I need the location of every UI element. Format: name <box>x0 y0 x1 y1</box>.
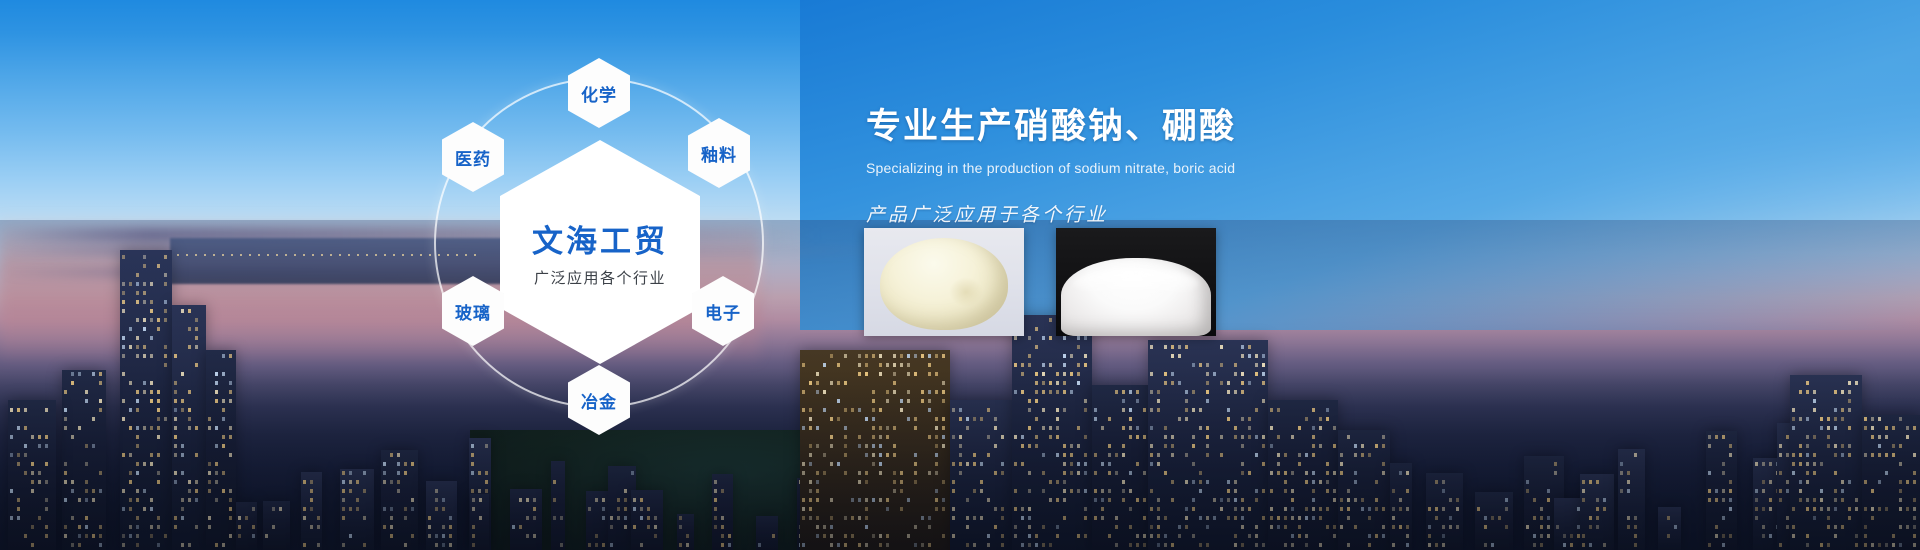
node-glass-label: 玻璃 <box>455 299 491 324</box>
industry-diagram: 文海工贸 广泛应用各个行业 化学 釉料 电子 冶金 玻璃 医药 <box>420 30 790 470</box>
company-name: 文海工贸 <box>532 216 668 261</box>
hero-banner: 文海工贸 广泛应用各个行业 化学 釉料 电子 冶金 玻璃 医药 专业生产硝酸钠、… <box>0 0 1920 550</box>
subheadline-text: Specializing in the production of sodium… <box>866 160 1766 176</box>
powder-pile-white <box>1061 258 1211 336</box>
product-photo-gallery <box>864 228 1216 336</box>
node-chemistry-label: 化学 <box>581 81 617 106</box>
node-metallurgy-label: 冶金 <box>581 388 617 413</box>
powder-pile-cream <box>880 238 1008 330</box>
node-electronics-label: 电子 <box>705 299 741 324</box>
product-photo-sodium-nitrate[interactable] <box>864 228 1024 336</box>
node-medicine-label: 医药 <box>455 145 491 170</box>
headline-block: 专业生产硝酸钠、硼酸 Specializing in the productio… <box>866 98 1766 227</box>
company-tagline: 广泛应用各个行业 <box>534 267 666 288</box>
headline-text: 专业生产硝酸钠、硼酸 <box>866 98 1766 149</box>
product-photo-boric-acid[interactable] <box>1056 228 1216 336</box>
tagline-text: 产品广泛应用于各个行业 <box>866 200 1766 227</box>
node-glaze-label: 釉料 <box>701 141 737 166</box>
